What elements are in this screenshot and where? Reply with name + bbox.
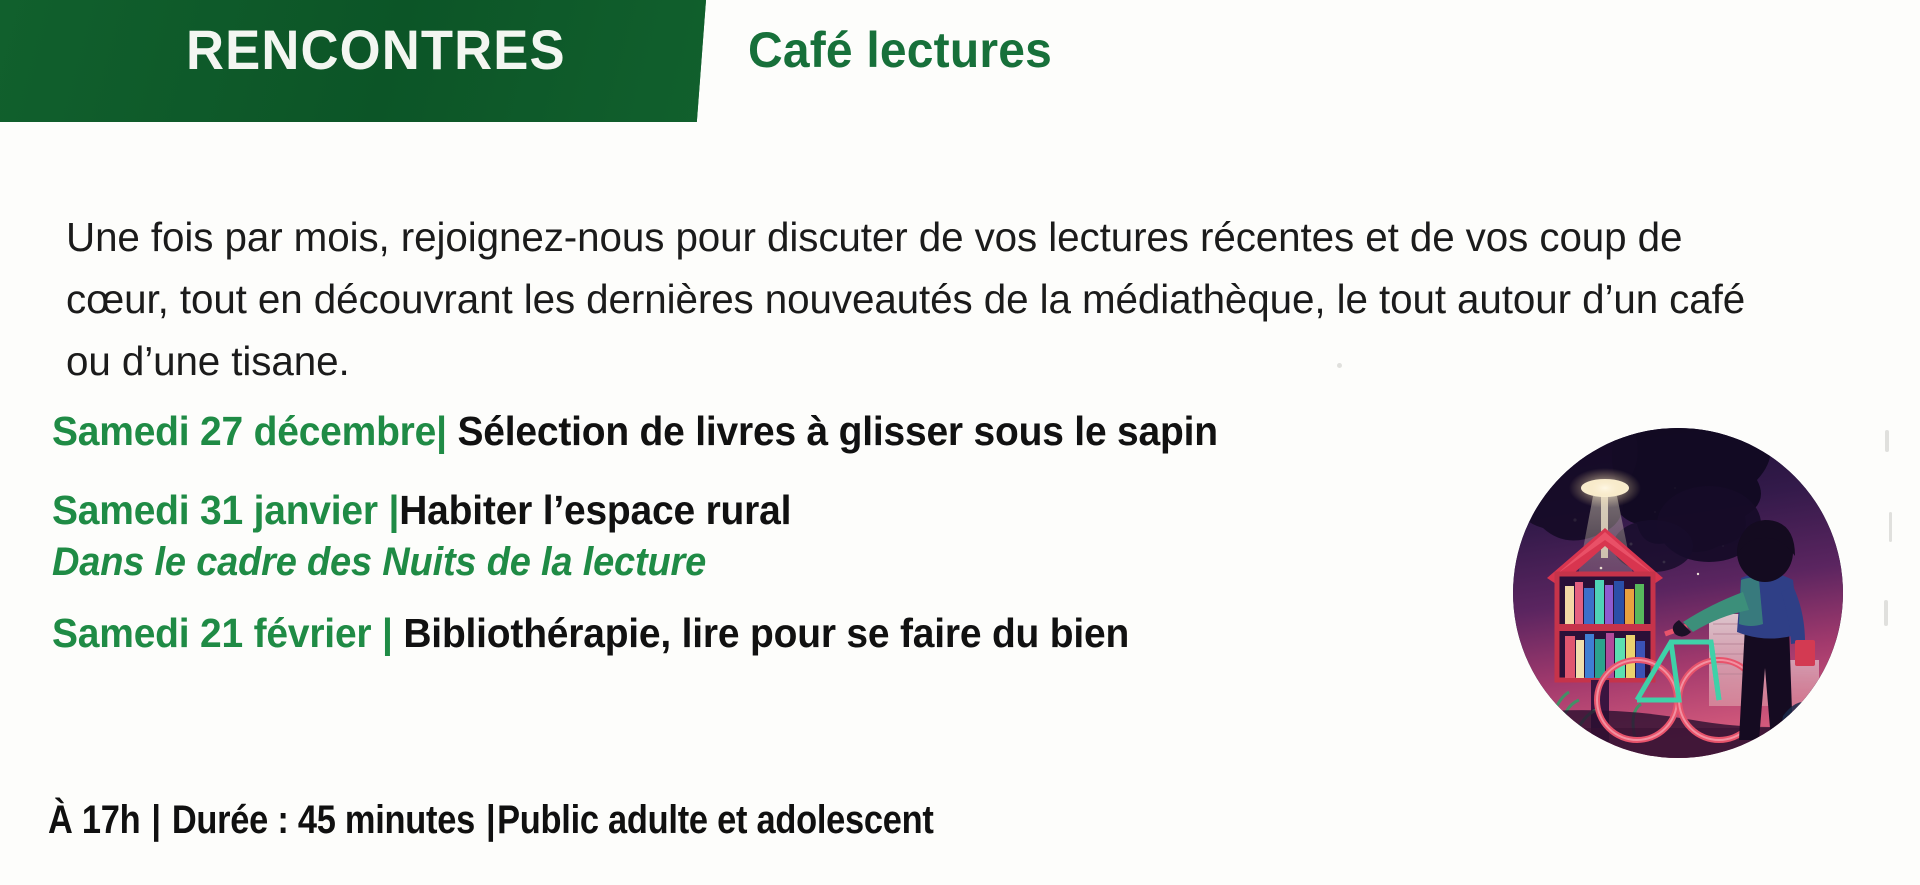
- schedule-entry-separator: |: [436, 408, 447, 454]
- practical-separator-2: |: [475, 798, 497, 842]
- schedule-entry: Samedi 21 février | Bibliothérapie, lire…: [52, 608, 1482, 659]
- schedule-list: Samedi 27 décembre| Sélection de livres …: [52, 406, 1482, 687]
- scan-artifact: [1889, 512, 1892, 542]
- scan-artifact: [1885, 430, 1889, 452]
- practical-audience: Public adulte et adolescent: [497, 798, 934, 842]
- schedule-entry-separator: |: [389, 487, 400, 533]
- section-title: Café lectures: [748, 21, 1052, 79]
- schedule-entry-subtitle: Dans le cadre des Nuits de la lecture: [52, 536, 1411, 588]
- category-label: RENCONTRES: [186, 17, 566, 82]
- schedule-entry-line: Samedi 27 décembre| Sélection de livres …: [52, 406, 1411, 457]
- schedule-entry-date: Samedi 31 janvier: [52, 487, 389, 533]
- schedule-entry-separator: |: [382, 610, 393, 656]
- schedule-entry-date: Samedi 27 décembre: [52, 408, 436, 454]
- header-bar: RENCONTRES Café lectures: [0, 0, 1920, 122]
- schedule-entry-description: Sélection de livres à glisser sous le sa…: [447, 408, 1218, 454]
- scan-artifact: [1337, 363, 1342, 368]
- schedule-entry-date: Samedi 21 février: [52, 610, 382, 656]
- schedule-entry-line: Samedi 21 février | Bibliothérapie, lire…: [52, 608, 1411, 659]
- flyer-section: RENCONTRES Café lectures Une fois par mo…: [0, 0, 1920, 885]
- practical-duration: Durée : 45 minutes: [172, 798, 475, 842]
- practical-separator-1: |: [140, 798, 171, 842]
- practical-time: À 17h: [48, 798, 140, 842]
- schedule-entry: Samedi 27 décembre| Sélection de livres …: [52, 406, 1482, 457]
- schedule-entry: Samedi 31 janvier |Habiter l’espace rura…: [52, 485, 1482, 588]
- practical-info: À 17h | Durée : 45 minutes |Public adult…: [48, 798, 934, 843]
- intro-paragraph: Une fois par mois, rejoignez-nous pour d…: [66, 206, 1770, 392]
- scan-artifact: [1884, 600, 1888, 626]
- schedule-entry-description: Bibliothérapie, lire pour se faire du bi…: [393, 610, 1129, 656]
- schedule-entry-line: Samedi 31 janvier |Habiter l’espace rura…: [52, 485, 1411, 536]
- night-street-library-bicycle-illustration: [1513, 428, 1843, 758]
- schedule-entry-description: Habiter l’espace rural: [399, 487, 791, 533]
